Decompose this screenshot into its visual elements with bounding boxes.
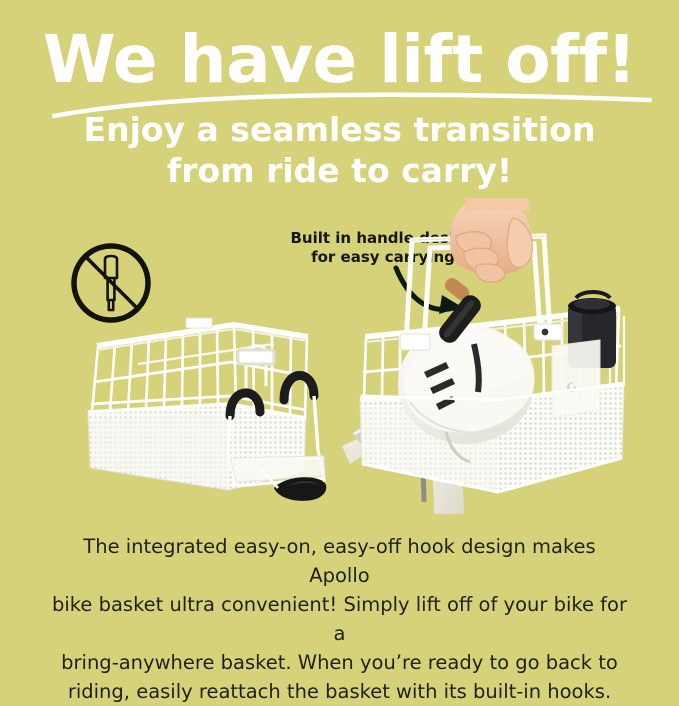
body-line-2: bike basket ultra convenient! Simply lif… [52,590,627,648]
headline-block: We have lift off! [0,24,679,120]
body-line-3: bring-anywhere basket. When you’re ready… [52,648,627,677]
subheading-line-2: from ride to carry! [40,150,639,191]
subheading: Enjoy a seamless transition from ride to… [40,109,639,191]
basket-detached-photo [78,300,343,505]
body-line-1: The integrated easy-on, easy-off hook de… [52,532,627,590]
basket-carried-photo: retrospec [338,196,648,516]
hand [450,198,532,282]
subheading-line-1: Enjoy a seamless transition [40,109,639,150]
marketing-infographic: We have lift off! Enjoy a seamless trans… [0,0,679,679]
body-line-4: riding, easily reattach the basket with … [52,677,627,706]
body-paragraph: The integrated easy-on, easy-off hook de… [52,532,627,706]
